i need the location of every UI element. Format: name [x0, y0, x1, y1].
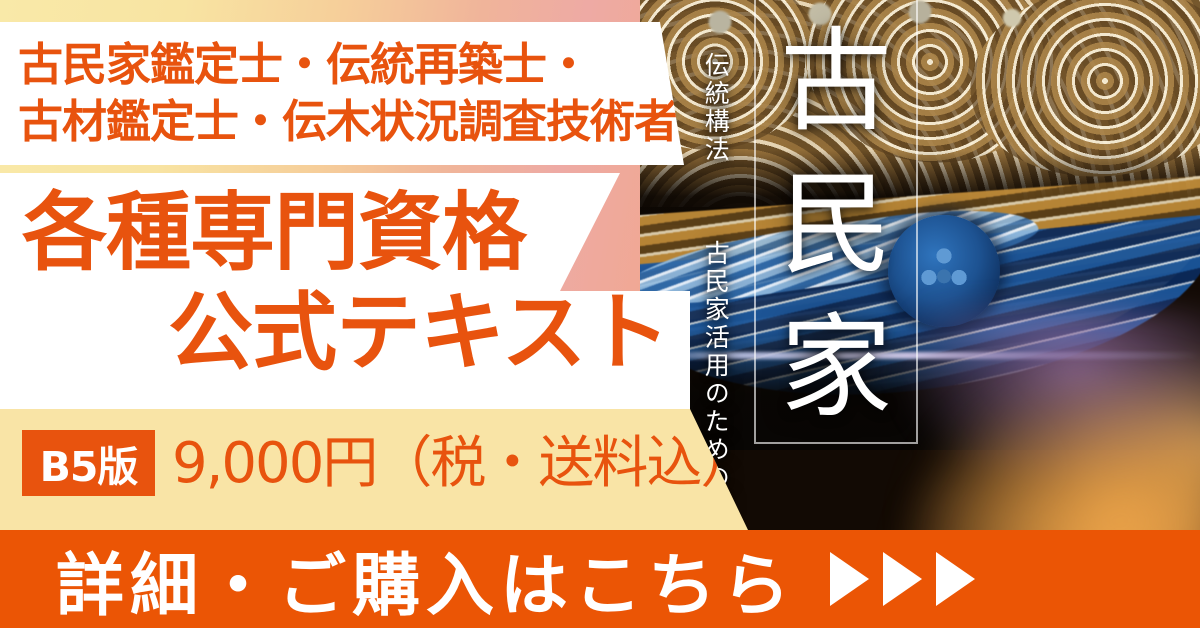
promo-banner: 古 民 家 伝統構法 古民家活用のための調査と再生の 古民家鑑定士・伝統再築士・…: [0, 0, 1200, 628]
bottom-right-glow-inner: [910, 360, 1200, 530]
price-text: 9,000円（税・送料込）: [172, 431, 754, 497]
triangle-right-icon: [830, 552, 869, 606]
cta-bar[interactable]: 詳細・ご購入はこちら: [0, 530, 1200, 628]
main-heading-line-2: 公式テキスト: [168, 291, 669, 376]
main-heading-line-1: 各種専門資格: [22, 191, 526, 276]
qualifications-panel: 古民家鑑定士・伝統再築士・ 古材鑑定士・伝木状況調査技術者: [0, 22, 740, 165]
triangle-right-icon: [936, 552, 975, 606]
cta-arrow-group[interactable]: [830, 552, 975, 606]
book-title-vertical: 古 民 家: [758, 10, 914, 440]
book-title-char-2: 民: [780, 169, 892, 281]
book-subtitle-top: 伝統構法: [702, 52, 728, 232]
qualifications-line-2: 古材鑑定士・伝木状況調査技術者: [18, 94, 740, 151]
book-title-char-3: 家: [780, 312, 892, 424]
triangle-right-icon: [883, 552, 922, 606]
qualifications-line-1: 古民家鑑定士・伝統再築士・: [18, 37, 740, 94]
size-badge: B5版: [22, 430, 155, 496]
price-panel: B5版 9,000円（税・送料込）: [0, 409, 760, 530]
book-title-char-1: 古: [780, 26, 892, 138]
book-cover-photo: 古 民 家 伝統構法 古民家活用のための調査と再生の: [640, 0, 1200, 530]
cta-label[interactable]: 詳細・ご購入はこちら: [56, 530, 796, 628]
